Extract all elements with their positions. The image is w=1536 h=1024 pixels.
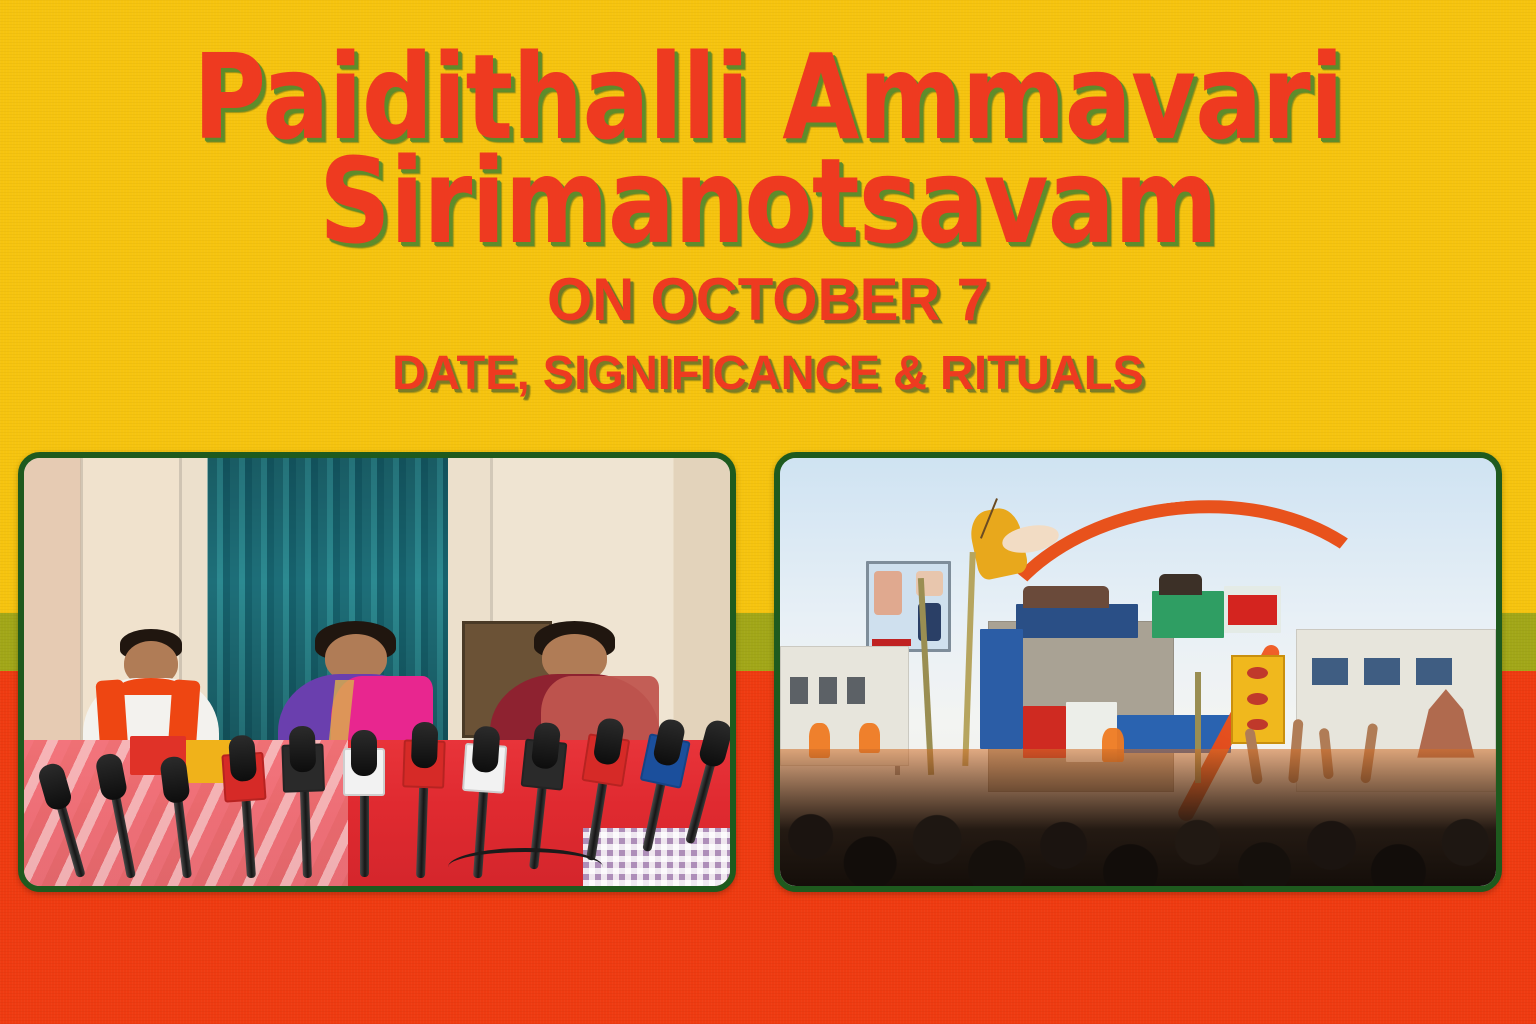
mic-head [289, 726, 317, 773]
mic-head [160, 755, 191, 804]
festival-scene [780, 458, 1496, 886]
microphone-with-flag [280, 731, 329, 878]
mic-head [351, 730, 377, 776]
billboard-hoarding [866, 561, 951, 653]
press-conference-scene [24, 458, 730, 886]
mic-head [411, 721, 439, 768]
subtitle-date: ON OCTOBER 7 [23, 265, 1513, 334]
man-shawl-collar [120, 678, 182, 695]
mic-cable [448, 848, 603, 886]
pivot-bolt [1247, 693, 1268, 705]
subtitle-topics: DATE, SIGNIFICANCE & RITUALS [15, 346, 1520, 401]
photo-sirimanu-procession [774, 452, 1502, 892]
pole-pivot-box [1231, 655, 1285, 745]
street-crowd [780, 749, 1496, 886]
pivot-bolt [1247, 667, 1268, 679]
microphone-with-flag [398, 727, 447, 878]
title-line-2: Sirimanotsavam [46, 144, 1490, 260]
building-window [790, 677, 808, 703]
billboard-text-bar [872, 639, 911, 646]
headline-block: Paidithalli Ammavari Sirimanotsavam ON O… [0, 40, 1536, 401]
mic-head [471, 725, 500, 773]
mic-head [94, 751, 128, 801]
building-window [847, 677, 865, 703]
building-window [1416, 658, 1452, 684]
poster-canvas: Paidithalli Ammavari Sirimanotsavam ON O… [0, 0, 1536, 1024]
mic-head [228, 734, 257, 782]
billboard-figure [874, 571, 902, 616]
photo-press-conference [18, 452, 736, 892]
microphone-with-flag [342, 736, 386, 877]
building-window [819, 677, 837, 703]
microphone-with-flag [219, 739, 272, 879]
